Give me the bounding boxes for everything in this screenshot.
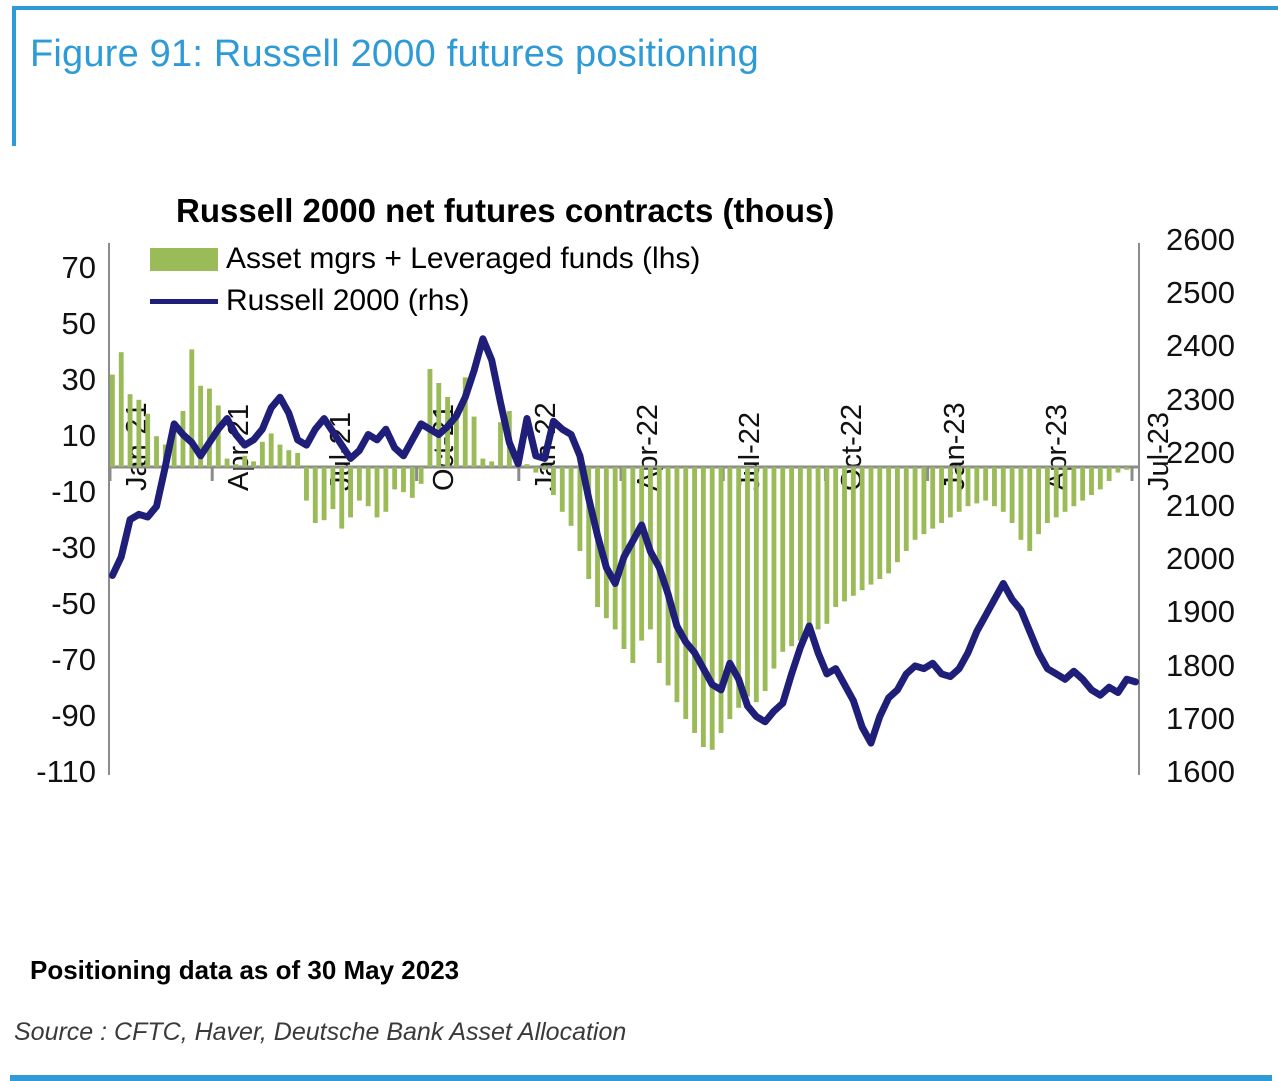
chart-footnote: Positioning data as of 30 May 2023 [30,955,459,986]
y-axis-left-tick: -10 [4,474,96,510]
plot-area [108,243,1140,775]
y-axis-left-tick: 30 [4,362,96,398]
y-axis-right-tick: 2000 [1166,541,1278,577]
header-top-rule [12,6,1278,10]
y-axis-right-tick: 2200 [1166,435,1278,471]
y-axis-right-tick: 2400 [1166,328,1278,364]
y-axis-right-tick: 1800 [1166,648,1278,684]
y-axis-right-tick: 2500 [1166,275,1278,311]
y-axis-left-tick: 70 [4,250,96,286]
y-axis-left-tick: -90 [4,698,96,734]
y-axis-right-tick: 2300 [1166,382,1278,418]
source-note: Source : CFTC, Haver, Deutsche Bank Asse… [14,1018,626,1047]
footer-rule [10,1075,1272,1081]
y-axis-left-tick: 10 [4,418,96,454]
chart-container: Russell 2000 net futures contracts (thou… [0,150,1278,850]
y-axis-left-tick: -110 [4,754,96,790]
y-axis-left-tick: -70 [4,642,96,678]
y-axis-left-tick: -50 [4,586,96,622]
y-axis-right-tick: 1600 [1166,754,1278,790]
x-axis-tick: Jul-23 [1143,412,1176,491]
y-axis-right-tick: 1900 [1166,594,1278,630]
figure-title: Figure 91: Russell 2000 futures position… [30,33,759,76]
figure-header: Figure 91: Russell 2000 futures position… [0,0,1278,150]
y-axis-right-tick: 1700 [1166,701,1278,737]
header-left-rule [12,6,16,146]
chart-title: Russell 2000 net futures contracts (thou… [176,192,834,230]
y-axis-right-tick: 2100 [1166,488,1278,524]
y-axis-left-tick: -30 [4,530,96,566]
y-axis-left-tick: 50 [4,306,96,342]
y-axis-right-tick: 2600 [1166,222,1278,258]
chart-svg [108,243,1140,775]
